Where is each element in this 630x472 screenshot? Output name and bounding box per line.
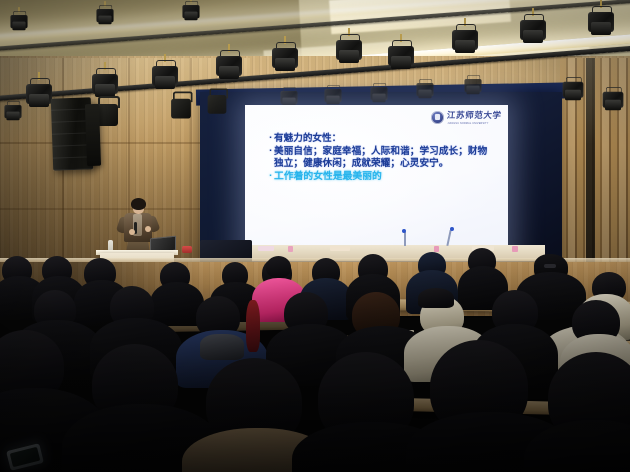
audience-hair [418,288,454,308]
stage-spotlight [416,79,433,99]
speaker-left-hand [129,229,135,235]
bullet-marker-icon: · [269,133,272,144]
moving-head-light [171,92,191,119]
microphone-stem [404,232,406,246]
lamp-body [92,74,118,94]
stage-spotlight [520,14,546,44]
stage-spotlight [92,68,118,98]
stage-spotlight [26,78,52,108]
university-emblem-icon [431,111,444,124]
stage-spotlight [4,101,21,121]
lamp-body [208,95,227,114]
lamp-lens [12,22,25,31]
lamp-lens [455,40,475,53]
university-logo: 江苏师范大学 JIANGSU NORMAL UNIVERSITY [431,109,502,125]
lamp-body [520,20,546,40]
lamp-body [280,91,297,104]
university-logo-text: 江苏师范大学 JIANGSU NORMAL UNIVERSITY [447,109,502,125]
lamp-lens [184,12,197,21]
stage-spotlight [388,40,414,70]
slide-bullet-list: · 有魅力的女性： · 美丽自信；家庭幸福；人际和谐；学习成长；财物独立；健康休… [269,133,495,184]
lamp-body [588,12,614,32]
stage-spotlight [280,87,297,107]
stage-spotlight [216,50,242,80]
bullet-marker-icon: · [269,171,272,182]
lamp-lens [98,16,111,25]
lamp-body [603,92,624,108]
stage-spotlight [588,6,614,36]
lamp-lens [29,94,49,107]
stage-spotlight [182,1,199,21]
lamp-body [4,105,21,118]
audience-hood [266,256,291,278]
moving-head-light [208,88,227,114]
stage-spotlight [563,77,584,101]
lamp-body [272,48,298,68]
lamp-body [324,89,341,102]
lamp-body [216,56,242,76]
table-item [512,246,518,252]
table-item [288,246,293,252]
lamp-lens [391,56,411,69]
lamp-body [336,40,362,60]
stage-spotlight [152,60,178,90]
stage-spotlight [272,42,298,72]
lamp-lens [565,90,581,100]
slide-bullet-text: 工作着的女性是最美丽的 [274,171,382,183]
slide-bullet: · 工作着的女性是最美丽的 [269,171,495,183]
audience-scarf [200,334,244,360]
lamp-lens [591,22,611,35]
lamp-body [10,15,27,28]
lamp-body [563,82,584,98]
table-item [434,246,439,252]
lamp-lens [523,30,543,43]
lamp-body [416,83,433,96]
projection-screen: 江苏师范大学 JIANGSU NORMAL UNIVERSITY · 有魅力的女… [245,105,508,260]
lamp-body [182,5,199,18]
lamp-lens [155,76,175,89]
lamp-lens [466,86,479,95]
slide-bullet: · 美丽自信；家庭幸福；人际和谐；学习成长；财物独立；健康休闲；成就荣耀；心灵安… [269,146,495,169]
slide-bullet-text: 有魅力的女性： [274,133,341,144]
lamp-lens [605,100,621,110]
table-item [330,246,350,251]
speaker-right-hand [145,226,151,232]
red-cup [182,246,192,253]
stage-spotlight [324,85,341,105]
lamp-body [26,84,52,104]
lamp-body [388,46,414,66]
lamp-lens [219,66,239,79]
lamp-body [171,99,191,119]
stage-spotlight [464,75,481,95]
lecture-hall-photo: 江苏师范大学 JIANGSU NORMAL UNIVERSITY · 有魅力的女… [0,0,630,472]
speaker-hair [131,198,146,210]
lamp-body [96,9,113,22]
lamp-lens [339,50,359,63]
lamp-lens [326,96,339,105]
stage-spotlight [96,5,113,25]
university-name-chinese: 江苏师范大学 [447,109,503,121]
slide-bullet-text: 美丽自信；家庭幸福；人际和谐；学习成长；财物独立；健康休闲；成就荣耀；心灵安宁。 [274,146,495,169]
audience-red-scarf [246,300,260,352]
stage-spotlight [452,24,478,54]
bullet-marker-icon: · [269,146,272,157]
lamp-lens [275,58,295,71]
lamp-lens [6,112,19,121]
stage-spotlight [10,11,27,31]
stage-spotlight [603,87,624,111]
lamp-body [464,79,481,92]
lamp-body [452,30,478,50]
slide-bullet: · 有魅力的女性： [269,133,495,144]
microphone-head [450,227,454,231]
lamp-body [152,66,178,86]
lamp-lens [372,94,385,103]
lamp-body [370,87,387,100]
line-array-speaker [85,104,101,166]
lamp-lens [418,90,431,99]
stage-spotlight [370,83,387,103]
eyeglasses-icon [544,264,556,268]
stage-spotlight [336,34,362,64]
microphone-head [402,229,406,233]
university-name-english: JIANGSU NORMAL UNIVERSITY [447,122,502,125]
phone-display [10,447,41,467]
table-item [258,246,274,251]
